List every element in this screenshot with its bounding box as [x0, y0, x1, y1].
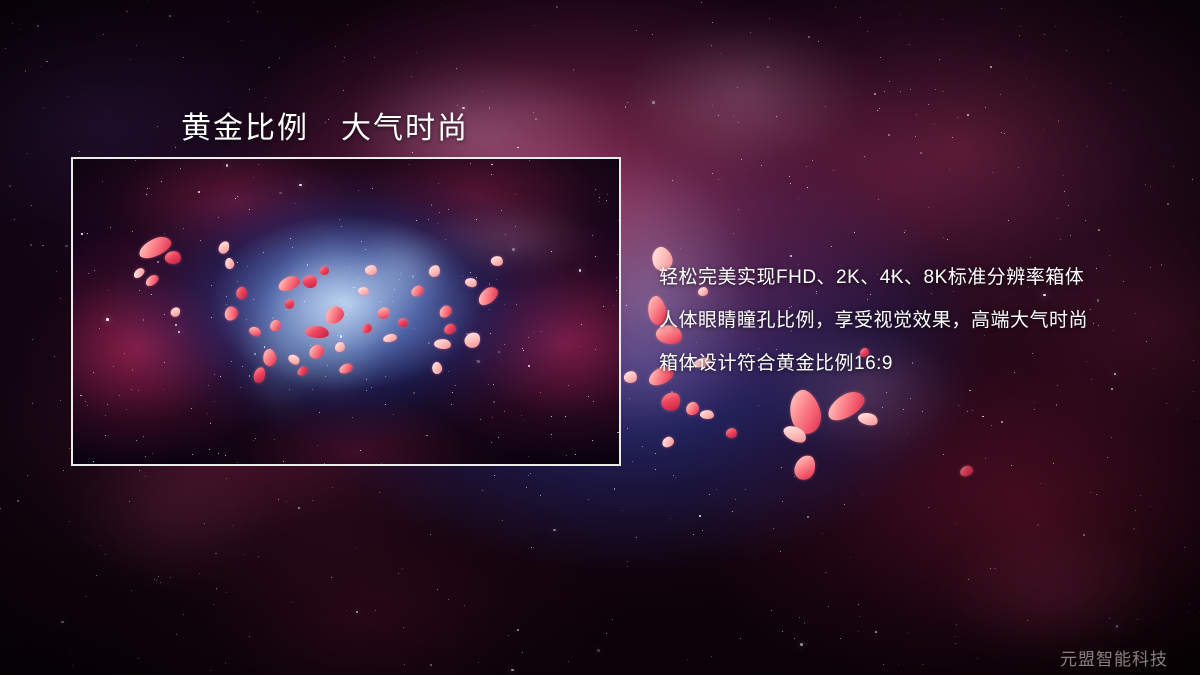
body-line-2: 人体眼睛瞳孔比例，享受视觉效果，高端大气时尚: [659, 299, 1179, 342]
body-text-block: 轻松完美实现FHD、2K、4K、8K标准分辨率箱体 人体眼睛瞳孔比例，享受视觉效…: [659, 256, 1179, 385]
body-line-1: 轻松完美实现FHD、2K、4K、8K标准分辨率箱体: [659, 256, 1179, 299]
page-title: 黄金比例 大气时尚: [181, 103, 469, 147]
slide-canvas: 黄金比例 大气时尚 轻松完美实现FHD、2K、4K、8K标准分辨率箱体 人体眼睛…: [0, 0, 1200, 675]
petal: [335, 342, 345, 352]
petal: [320, 266, 329, 275]
watermark: 元盟智能科技: [1060, 645, 1168, 670]
starfield-panel: [73, 159, 619, 464]
body-line-3: 箱体设计符合黄金比例16:9: [659, 342, 1179, 385]
nebula-preview-panel: [71, 157, 621, 466]
